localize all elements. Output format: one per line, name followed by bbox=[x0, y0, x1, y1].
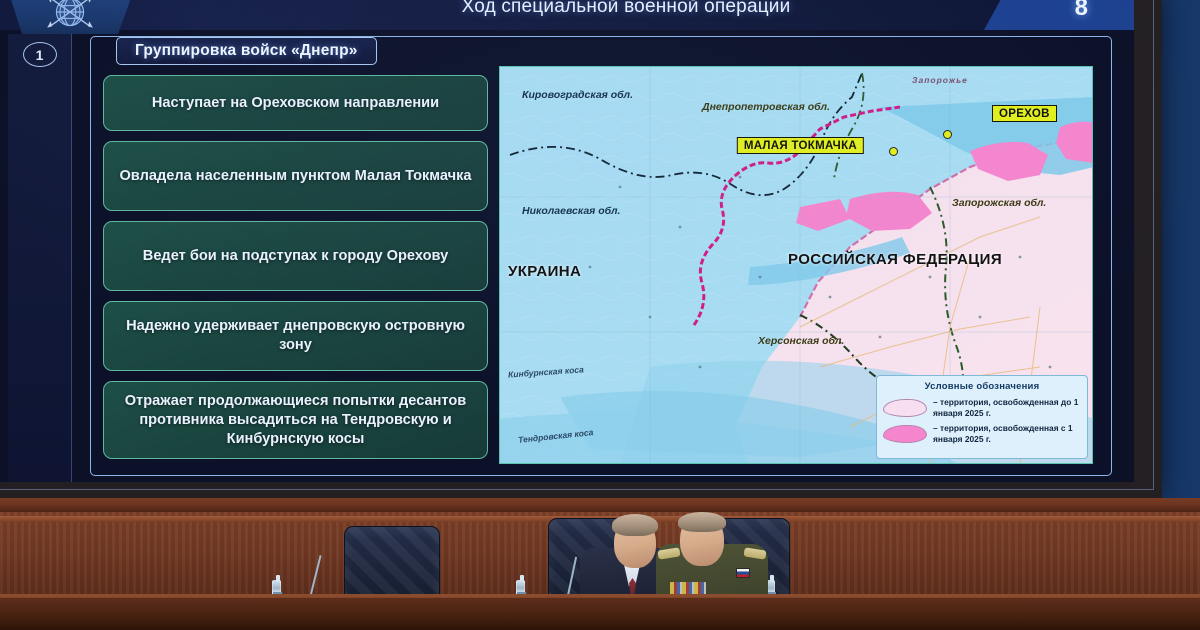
map-callout-malaya-tokmachka[interactable]: МАЛАЯ ТОКМАЧКА bbox=[737, 137, 864, 154]
legend-row: – территория, освобожденная с 1 января 2… bbox=[883, 423, 1081, 444]
page-title: Ход специальной военной операции bbox=[316, 0, 936, 18]
map-label-oblast: Кировоградская обл. bbox=[522, 89, 633, 101]
emblem-plate bbox=[8, 0, 134, 34]
sidebar-title-wrap: ОБЕСПЕЧЕНИЕ ДОСТИЖЕНИЯ ЦЕЛЕЙ СПЕЦИАЛЬНОЙ… bbox=[0, 78, 240, 134]
podium-front-panel bbox=[0, 598, 1200, 630]
map-legend: Условные обозначения – территория, освоб… bbox=[876, 375, 1088, 459]
list-item: Наступает на Ореховском направлении bbox=[103, 75, 488, 131]
map-label-oblast: Днепропетровская обл. bbox=[702, 101, 830, 113]
slide-number-banner bbox=[984, 0, 1134, 30]
presentation-slide: Ход специальной военной операции 8 1 ОБЕ… bbox=[0, 0, 1134, 482]
legend-row: – территория, освобожденная до 1 января … bbox=[883, 397, 1081, 418]
person-hair bbox=[678, 512, 726, 532]
section-number-badge: 1 bbox=[23, 42, 57, 67]
screenshot-root: Ход специальной военной операции 8 1 ОБЕ… bbox=[0, 0, 1200, 630]
city-marker-orekhov bbox=[943, 130, 952, 139]
city-marker-malaya-tokmachka bbox=[889, 147, 898, 156]
legend-label: – территория, освобожденная с 1 января 2… bbox=[933, 423, 1081, 444]
map-label-city: Запорожье bbox=[912, 75, 968, 85]
list-item: Ведет бои на подступах к городу Орехову bbox=[103, 221, 488, 291]
legend-label: – территория, освобожденная до 1 января … bbox=[933, 397, 1081, 418]
map-graphic bbox=[500, 67, 1093, 464]
panel-title-chip: Группировка войск «Днепр» bbox=[116, 37, 377, 65]
presentation-screen-bezel: Ход специальной военной операции 8 1 ОБЕ… bbox=[0, 0, 1162, 498]
russian-general-staff-emblem-icon bbox=[33, 0, 107, 32]
legend-swatch-liberated-after bbox=[883, 425, 927, 443]
map-label-country: РОССИЙСКАЯ ФЕДЕРАЦИЯ bbox=[788, 251, 1002, 268]
map-label-oblast: Николаевская обл. bbox=[522, 205, 620, 217]
bullet-list: Наступает на Ореховском направлении Овла… bbox=[103, 75, 488, 469]
operational-map: Кировоградская обл. Днепропетровская обл… bbox=[499, 66, 1093, 464]
map-callout-orekhov[interactable]: ОРЕХОВ bbox=[992, 105, 1057, 122]
legend-swatch-liberated-before bbox=[883, 399, 927, 417]
map-label-oblast: Херсонская обл. bbox=[758, 335, 844, 347]
left-vertical-sidebar: 1 ОБЕСПЕЧЕНИЕ ДОСТИЖЕНИЯ ЦЕЛЕЙ СПЕЦИАЛЬН… bbox=[8, 34, 72, 482]
slide-header-bar bbox=[0, 0, 1134, 30]
list-item: Отражает продолжающиеся попытки десантов… bbox=[103, 381, 488, 459]
map-label-coast: Тендровская коса bbox=[518, 427, 594, 445]
content-frame bbox=[90, 36, 1112, 476]
map-label-oblast: Запорожская обл. bbox=[952, 197, 1046, 209]
legend-title: Условные обозначения bbox=[883, 381, 1081, 392]
slide-number: 8 bbox=[1075, 0, 1088, 22]
podium-top-edge bbox=[0, 498, 1200, 512]
list-item: Надежно удерживает днепровскую островную… bbox=[103, 301, 488, 371]
list-item: Овладела населенным пунктом Малая Токмач… bbox=[103, 141, 488, 211]
map-label-coast: Кинбурнская коса bbox=[508, 364, 584, 379]
map-label-country: УКРАИНА bbox=[508, 263, 581, 280]
flag-patch-icon bbox=[736, 568, 750, 578]
